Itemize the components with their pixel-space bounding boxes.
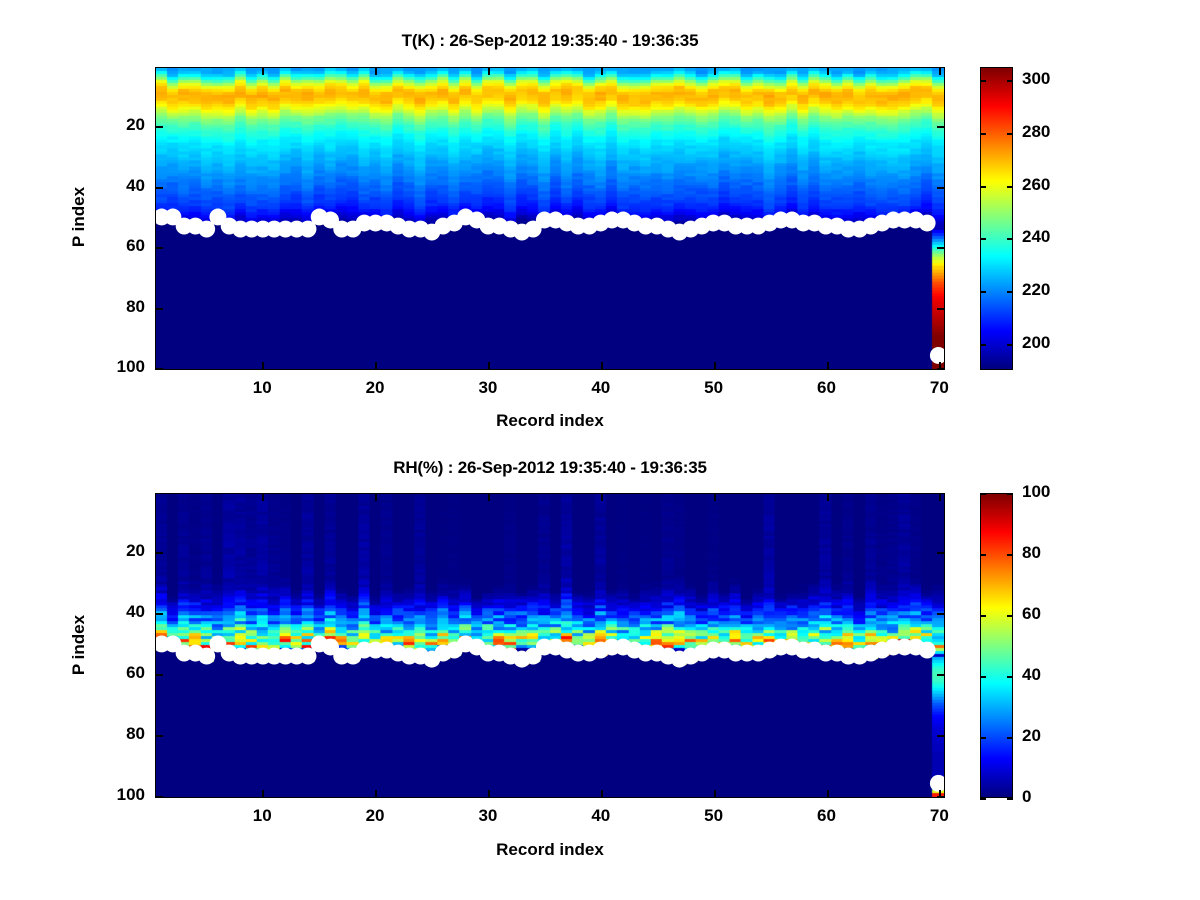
x-tick-label: 60 [787, 806, 867, 826]
colorbar-tick-mark-right [1007, 291, 1013, 293]
temperature-x-axis-label: Record index [400, 411, 700, 431]
colorbar-tick-mark [980, 80, 986, 82]
colorbar-tick-mark [980, 238, 986, 240]
x-tick-mark [601, 362, 603, 370]
humidity-colorbar-gradient [981, 494, 1012, 797]
humidity-x-axis-label: Record index [400, 840, 700, 860]
x-tick-mark [488, 362, 490, 370]
temperature-colorbar[interactable] [980, 67, 1013, 370]
y-tick-label: 80 [83, 724, 145, 744]
x-tick-mark-top [714, 493, 716, 501]
x-tick-mark [488, 790, 490, 798]
colorbar-tick-mark-right [1007, 238, 1013, 240]
x-tick-mark-top [939, 493, 941, 501]
colorbar-tick-mark-right [1007, 80, 1013, 82]
y-tick-mark [155, 247, 163, 249]
matlab-figure-window: T(K) : 26-Sep-2012 19:35:40 - 19:36:35 2… [0, 0, 1200, 900]
y-tick-label: 100 [83, 357, 145, 377]
y-tick-label: 60 [83, 663, 145, 683]
humidity-colorbar[interactable] [980, 493, 1013, 798]
x-tick-mark-top [375, 67, 377, 75]
colorbar-tick-mark [980, 554, 986, 556]
x-tick-mark-top [939, 67, 941, 75]
x-tick-mark [262, 790, 264, 798]
colorbar-tick-mark [980, 676, 986, 678]
colorbar-tick-mark [980, 493, 986, 495]
y-tick-mark [155, 126, 163, 128]
colorbar-tick-mark-right [1007, 493, 1013, 495]
colorbar-tick-label: 0 [1022, 787, 1031, 807]
y-tick-mark-right [937, 552, 945, 554]
x-tick-label: 20 [335, 806, 415, 826]
colorbar-tick-mark-right [1007, 676, 1013, 678]
y-tick-mark-right [937, 308, 945, 310]
x-tick-label: 40 [561, 378, 641, 398]
y-tick-mark [155, 552, 163, 554]
y-tick-label: 80 [83, 297, 145, 317]
colorbar-tick-mark-right [1007, 133, 1013, 135]
temperature-colorbar-gradient [981, 68, 1012, 369]
y-tick-mark-right [937, 735, 945, 737]
y-tick-mark-right [937, 126, 945, 128]
y-tick-label: 40 [83, 602, 145, 622]
colorbar-tick-mark-right [1007, 737, 1013, 739]
x-tick-label: 30 [448, 378, 528, 398]
y-tick-mark [155, 796, 163, 798]
x-tick-mark-top [262, 67, 264, 75]
colorbar-tick-mark-right [1007, 615, 1013, 617]
x-tick-label: 50 [674, 378, 754, 398]
colorbar-tick-label: 80 [1022, 543, 1041, 563]
x-tick-mark-top [488, 67, 490, 75]
colorbar-tick-label: 100 [1022, 482, 1050, 502]
y-tick-mark-right [937, 247, 945, 249]
y-tick-label: 20 [83, 115, 145, 135]
x-tick-mark-top [601, 67, 603, 75]
x-tick-label: 20 [335, 378, 415, 398]
y-tick-label: 20 [83, 541, 145, 561]
colorbar-tick-label: 20 [1022, 726, 1041, 746]
x-tick-mark [939, 362, 941, 370]
x-tick-mark [601, 790, 603, 798]
colorbar-tick-mark-right [1007, 554, 1013, 556]
x-tick-mark-top [375, 493, 377, 501]
x-tick-label: 70 [899, 806, 979, 826]
x-tick-mark [827, 362, 829, 370]
x-tick-mark [714, 362, 716, 370]
y-tick-mark [155, 613, 163, 615]
x-tick-mark [375, 362, 377, 370]
x-tick-mark-top [601, 493, 603, 501]
colorbar-tick-mark-right [1007, 798, 1013, 800]
x-tick-mark-top [827, 493, 829, 501]
y-tick-mark-right [937, 187, 945, 189]
colorbar-tick-mark [980, 737, 986, 739]
x-tick-mark-top [262, 493, 264, 501]
x-tick-label: 30 [448, 806, 528, 826]
colorbar-tick-mark [980, 615, 986, 617]
y-tick-mark [155, 308, 163, 310]
x-tick-mark-top [488, 493, 490, 501]
y-tick-mark [155, 674, 163, 676]
colorbar-tick-label: 220 [1022, 280, 1050, 300]
x-tick-label: 50 [674, 806, 754, 826]
colorbar-tick-mark [980, 186, 986, 188]
x-tick-mark [714, 790, 716, 798]
x-tick-label: 10 [222, 806, 302, 826]
x-tick-mark [375, 790, 377, 798]
colorbar-tick-mark-right [1007, 344, 1013, 346]
y-tick-label: 100 [83, 785, 145, 805]
colorbar-tick-label: 260 [1022, 175, 1050, 195]
colorbar-tick-mark-right [1007, 186, 1013, 188]
temperature-plot-title: T(K) : 26-Sep-2012 19:35:40 - 19:36:35 [155, 31, 945, 51]
humidity-heatmap-image [156, 494, 944, 797]
y-tick-mark-right [937, 613, 945, 615]
colorbar-tick-mark [980, 344, 986, 346]
y-tick-mark [155, 187, 163, 189]
x-tick-mark [939, 790, 941, 798]
y-tick-mark [155, 368, 163, 370]
x-tick-label: 40 [561, 806, 641, 826]
colorbar-tick-label: 240 [1022, 227, 1050, 247]
humidity-y-axis-label: P index [69, 580, 89, 710]
y-tick-label: 60 [83, 236, 145, 256]
colorbar-tick-label: 60 [1022, 604, 1041, 624]
y-tick-label: 40 [83, 176, 145, 196]
humidity-heatmap-axes[interactable] [155, 493, 945, 798]
colorbar-tick-label: 280 [1022, 122, 1050, 142]
colorbar-tick-label: 40 [1022, 665, 1041, 685]
x-tick-mark-top [827, 67, 829, 75]
colorbar-tick-mark [980, 291, 986, 293]
x-tick-mark [262, 362, 264, 370]
colorbar-tick-mark [980, 133, 986, 135]
x-tick-label: 10 [222, 378, 302, 398]
humidity-plot-title: RH(%) : 26-Sep-2012 19:35:40 - 19:36:35 [155, 458, 945, 478]
colorbar-tick-label: 300 [1022, 69, 1050, 89]
x-tick-label: 70 [899, 378, 979, 398]
colorbar-tick-mark [980, 798, 986, 800]
x-tick-mark [827, 790, 829, 798]
temperature-heatmap-image [156, 68, 944, 369]
colorbar-tick-label: 200 [1022, 333, 1050, 353]
temperature-heatmap-axes[interactable] [155, 67, 945, 370]
x-tick-label: 60 [787, 378, 867, 398]
x-tick-mark-top [714, 67, 716, 75]
y-tick-mark-right [937, 674, 945, 676]
y-tick-mark [155, 735, 163, 737]
temperature-y-axis-label: P index [69, 152, 89, 282]
